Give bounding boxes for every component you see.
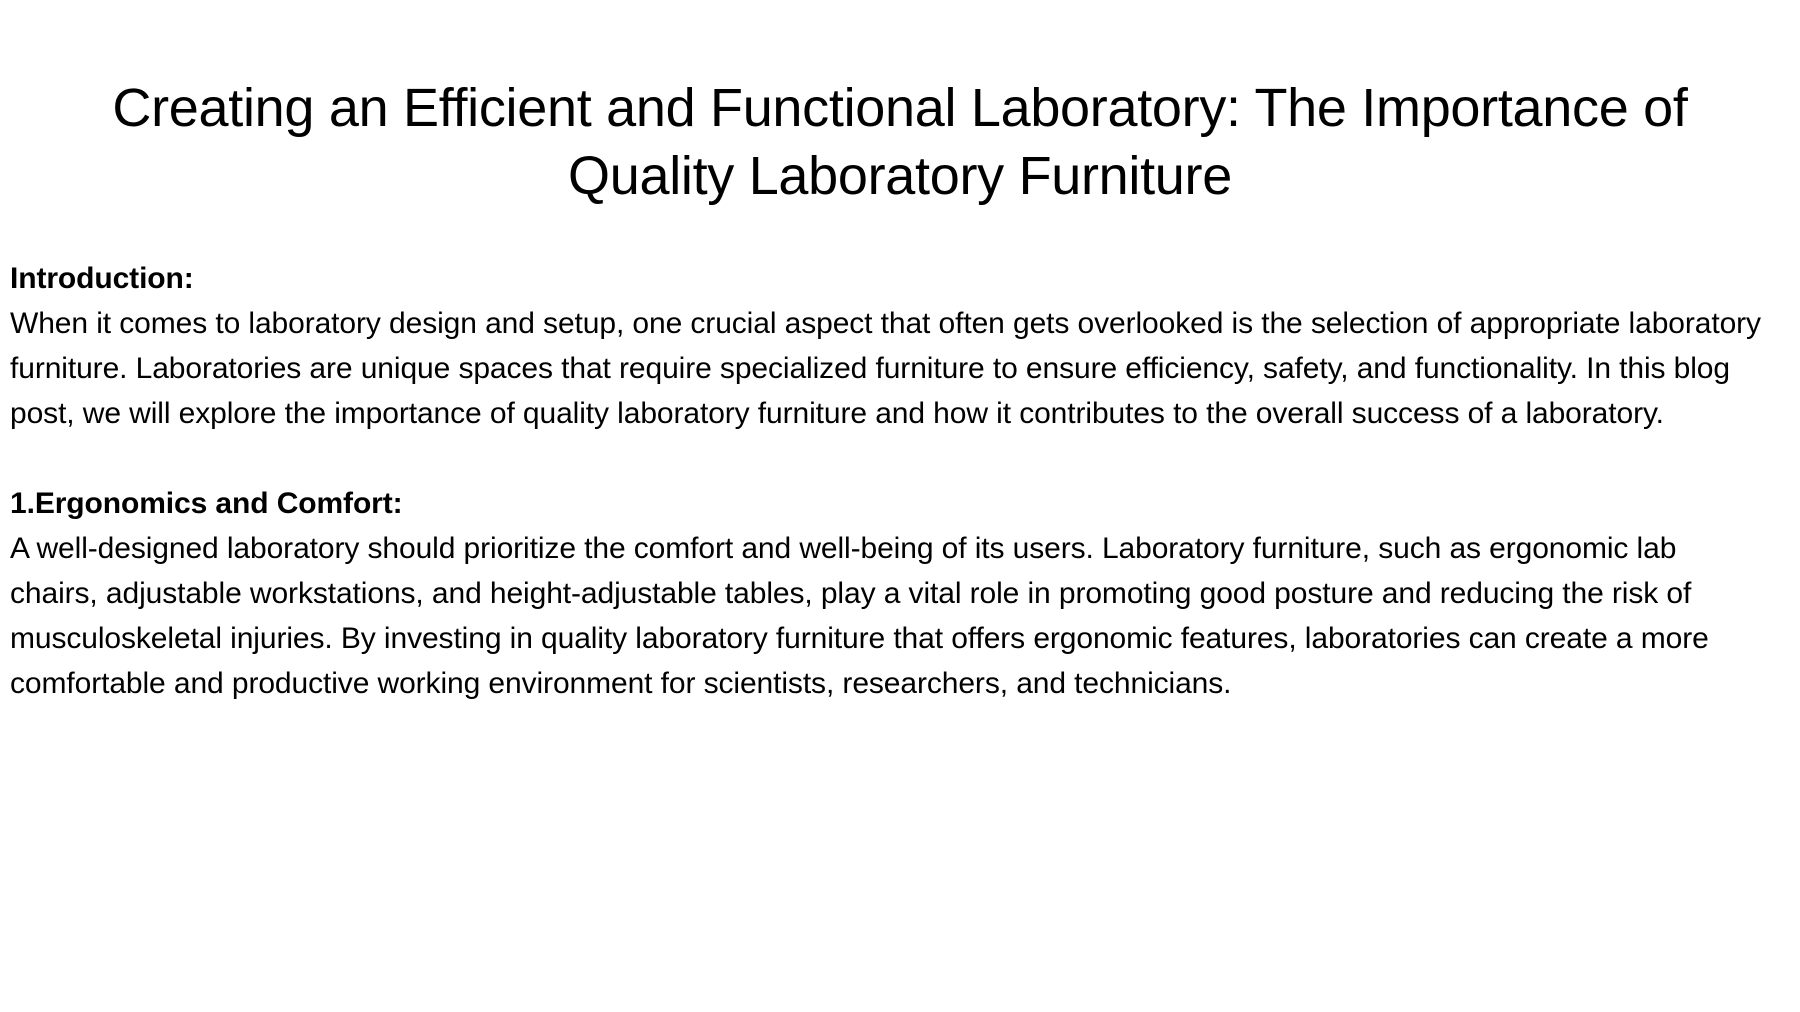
section-heading-introduction: Introduction: [10, 256, 1770, 301]
section-body-ergonomics-and-comfort: A well-designed laboratory should priori… [10, 526, 1770, 706]
section-introduction: Introduction: When it comes to laborator… [10, 256, 1770, 436]
section-heading-ergonomics-and-comfort: 1.Ergonomics and Comfort: [10, 481, 1770, 526]
section-ergonomics-and-comfort: 1.Ergonomics and Comfort: A well-designe… [10, 481, 1770, 706]
page-title: Creating an Efficient and Functional Lab… [90, 74, 1710, 210]
document-page: Creating an Efficient and Functional Lab… [0, 0, 1800, 1012]
document-body: Introduction: When it comes to laborator… [10, 256, 1770, 706]
section-body-introduction: When it comes to laboratory design and s… [10, 301, 1770, 436]
